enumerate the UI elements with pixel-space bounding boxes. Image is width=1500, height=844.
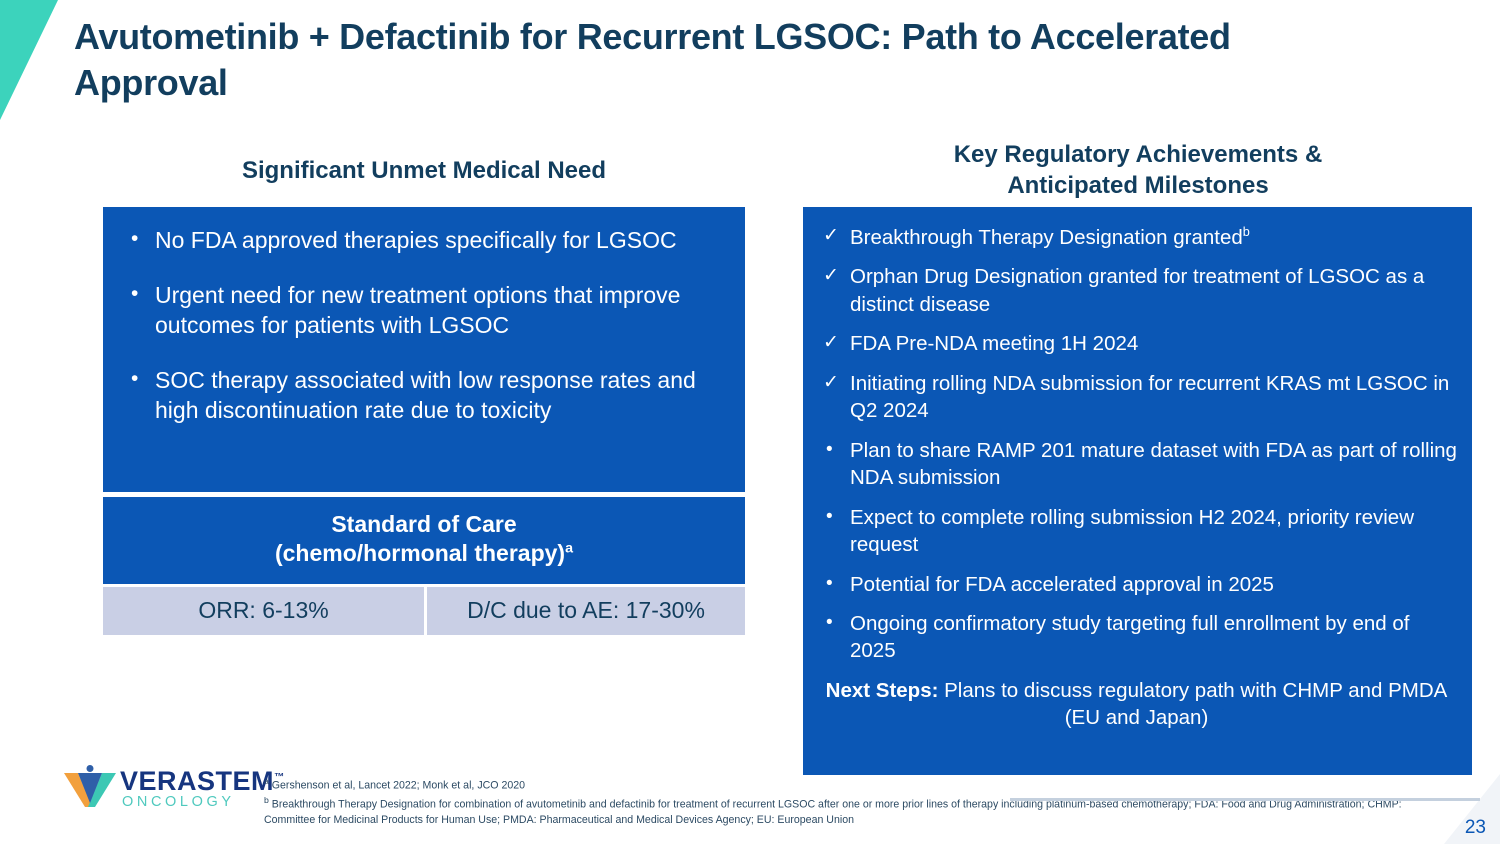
list-item: • Plan to share RAMP 201 mature dataset … — [813, 437, 1460, 492]
verastem-v-mark-icon — [62, 765, 118, 811]
footer-divider — [1010, 798, 1480, 801]
list-item-label: Orphan Drug Designation granted for trea… — [850, 263, 1460, 318]
soc-footnote-marker: a — [565, 541, 573, 557]
soc-title-line2: (chemo/hormonal therapy) — [275, 540, 565, 566]
bullet-dot-icon: • — [813, 504, 850, 529]
checkmark-icon: ✓ — [813, 263, 850, 288]
list-item-label: SOC therapy associated with low response… — [155, 365, 731, 426]
list-item-label: Plan to share RAMP 201 mature dataset wi… — [850, 437, 1460, 492]
checkmark-icon: ✓ — [813, 223, 850, 248]
list-item: • SOC therapy associated with low respon… — [117, 365, 731, 426]
footnote-a: a Gershenson et al, Lancet 2022; Monk et… — [264, 775, 1444, 794]
checkmark-icon: ✓ — [813, 370, 850, 395]
list-item: ✓ Initiating rolling NDA submission for … — [813, 370, 1460, 425]
bullet-dot-icon: • — [117, 365, 155, 393]
soc-title-line1: Standard of Care — [331, 511, 516, 537]
list-item-label: Urgent need for new treatment options th… — [155, 280, 731, 341]
footnotes: a Gershenson et al, Lancet 2022; Monk et… — [264, 775, 1444, 828]
list-item-label: Initiating rolling NDA submission for re… — [850, 370, 1460, 425]
list-item: • Urgent need for new treatment options … — [117, 280, 731, 341]
list-item-label: Expect to complete rolling submission H2… — [850, 504, 1460, 559]
bullet-dot-icon: • — [117, 225, 155, 253]
footnote-a-text: Gershenson et al, Lancet 2022; Monk et a… — [269, 780, 525, 792]
bullet-dot-icon: • — [117, 280, 155, 308]
list-item-label: Ongoing confirmatory study targeting ful… — [850, 610, 1460, 665]
list-item-label: No FDA approved therapies specifically f… — [155, 225, 731, 256]
standard-of-care-title: Standard of Care (chemo/hormonal therapy… — [103, 497, 745, 584]
list-item: • Expect to complete rolling submission … — [813, 504, 1460, 559]
left-column-header: Significant Unmet Medical Need — [103, 156, 745, 187]
list-item-label: Potential for FDA accelerated approval i… — [850, 571, 1460, 598]
list-item-text: Breakthrough Therapy Designation granted — [850, 226, 1243, 249]
verastem-logo: VERASTEM™ ONCOLOGY — [62, 765, 258, 815]
right-column-header-line2: Anticipated Milestones — [1007, 172, 1268, 199]
list-item: • No FDA approved therapies specifically… — [117, 225, 731, 256]
standard-of-care-table: ORR: 6-13% D/C due to AE: 17-30% — [103, 587, 745, 635]
next-steps-label: Next Steps: — [826, 679, 939, 702]
bullet-dot-icon: • — [813, 571, 850, 596]
table-cell-orr: ORR: 6-13% — [103, 587, 424, 635]
next-steps-block: Next Steps: Plans to discuss regulatory … — [813, 677, 1460, 732]
unmet-need-bullet-list: • No FDA approved therapies specifically… — [103, 207, 745, 492]
logo-wordmark: VERASTEM™ — [120, 766, 285, 797]
page-title: Avutometinib + Defactinib for Recurrent … — [74, 14, 1304, 106]
page-number: 23 — [1465, 817, 1486, 839]
logo-wordmark-text: VERASTEM — [120, 766, 274, 796]
right-column-header: Key Regulatory Achievements & Anticipate… — [803, 140, 1473, 201]
bullet-dot-icon: • — [813, 610, 850, 635]
logo-subtitle: ONCOLOGY — [122, 794, 235, 810]
bullet-dot-icon: • — [813, 437, 850, 462]
list-item-label: FDA Pre-NDA meeting 1H 2024 — [850, 330, 1460, 357]
list-item: ✓ Orphan Drug Designation granted for tr… — [813, 263, 1460, 318]
next-steps-text: Plans to discuss regulatory path with CH… — [938, 679, 1447, 729]
table-cell-discontinuation: D/C due to AE: 17-30% — [424, 587, 745, 635]
right-column-header-line1: Key Regulatory Achievements & — [954, 141, 1323, 168]
corner-accent-triangle-icon — [0, 0, 70, 120]
footnote-b-text: Breakthrough Therapy Designation for com… — [264, 798, 1402, 826]
checkmark-icon: ✓ — [813, 330, 850, 355]
list-item-label: Breakthrough Therapy Designation granted… — [850, 223, 1460, 251]
list-item: • Ongoing confirmatory study targeting f… — [813, 610, 1460, 665]
slide-canvas: Avutometinib + Defactinib for Recurrent … — [0, 0, 1500, 844]
list-item: ✓ Breakthrough Therapy Designation grant… — [813, 223, 1460, 251]
footnote-marker: b — [1243, 224, 1250, 239]
left-panel: • No FDA approved therapies specifically… — [103, 207, 745, 635]
regulatory-milestones-panel: ✓ Breakthrough Therapy Designation grant… — [803, 207, 1472, 775]
list-item: • Potential for FDA accelerated approval… — [813, 571, 1460, 598]
list-item: ✓ FDA Pre-NDA meeting 1H 2024 — [813, 330, 1460, 357]
